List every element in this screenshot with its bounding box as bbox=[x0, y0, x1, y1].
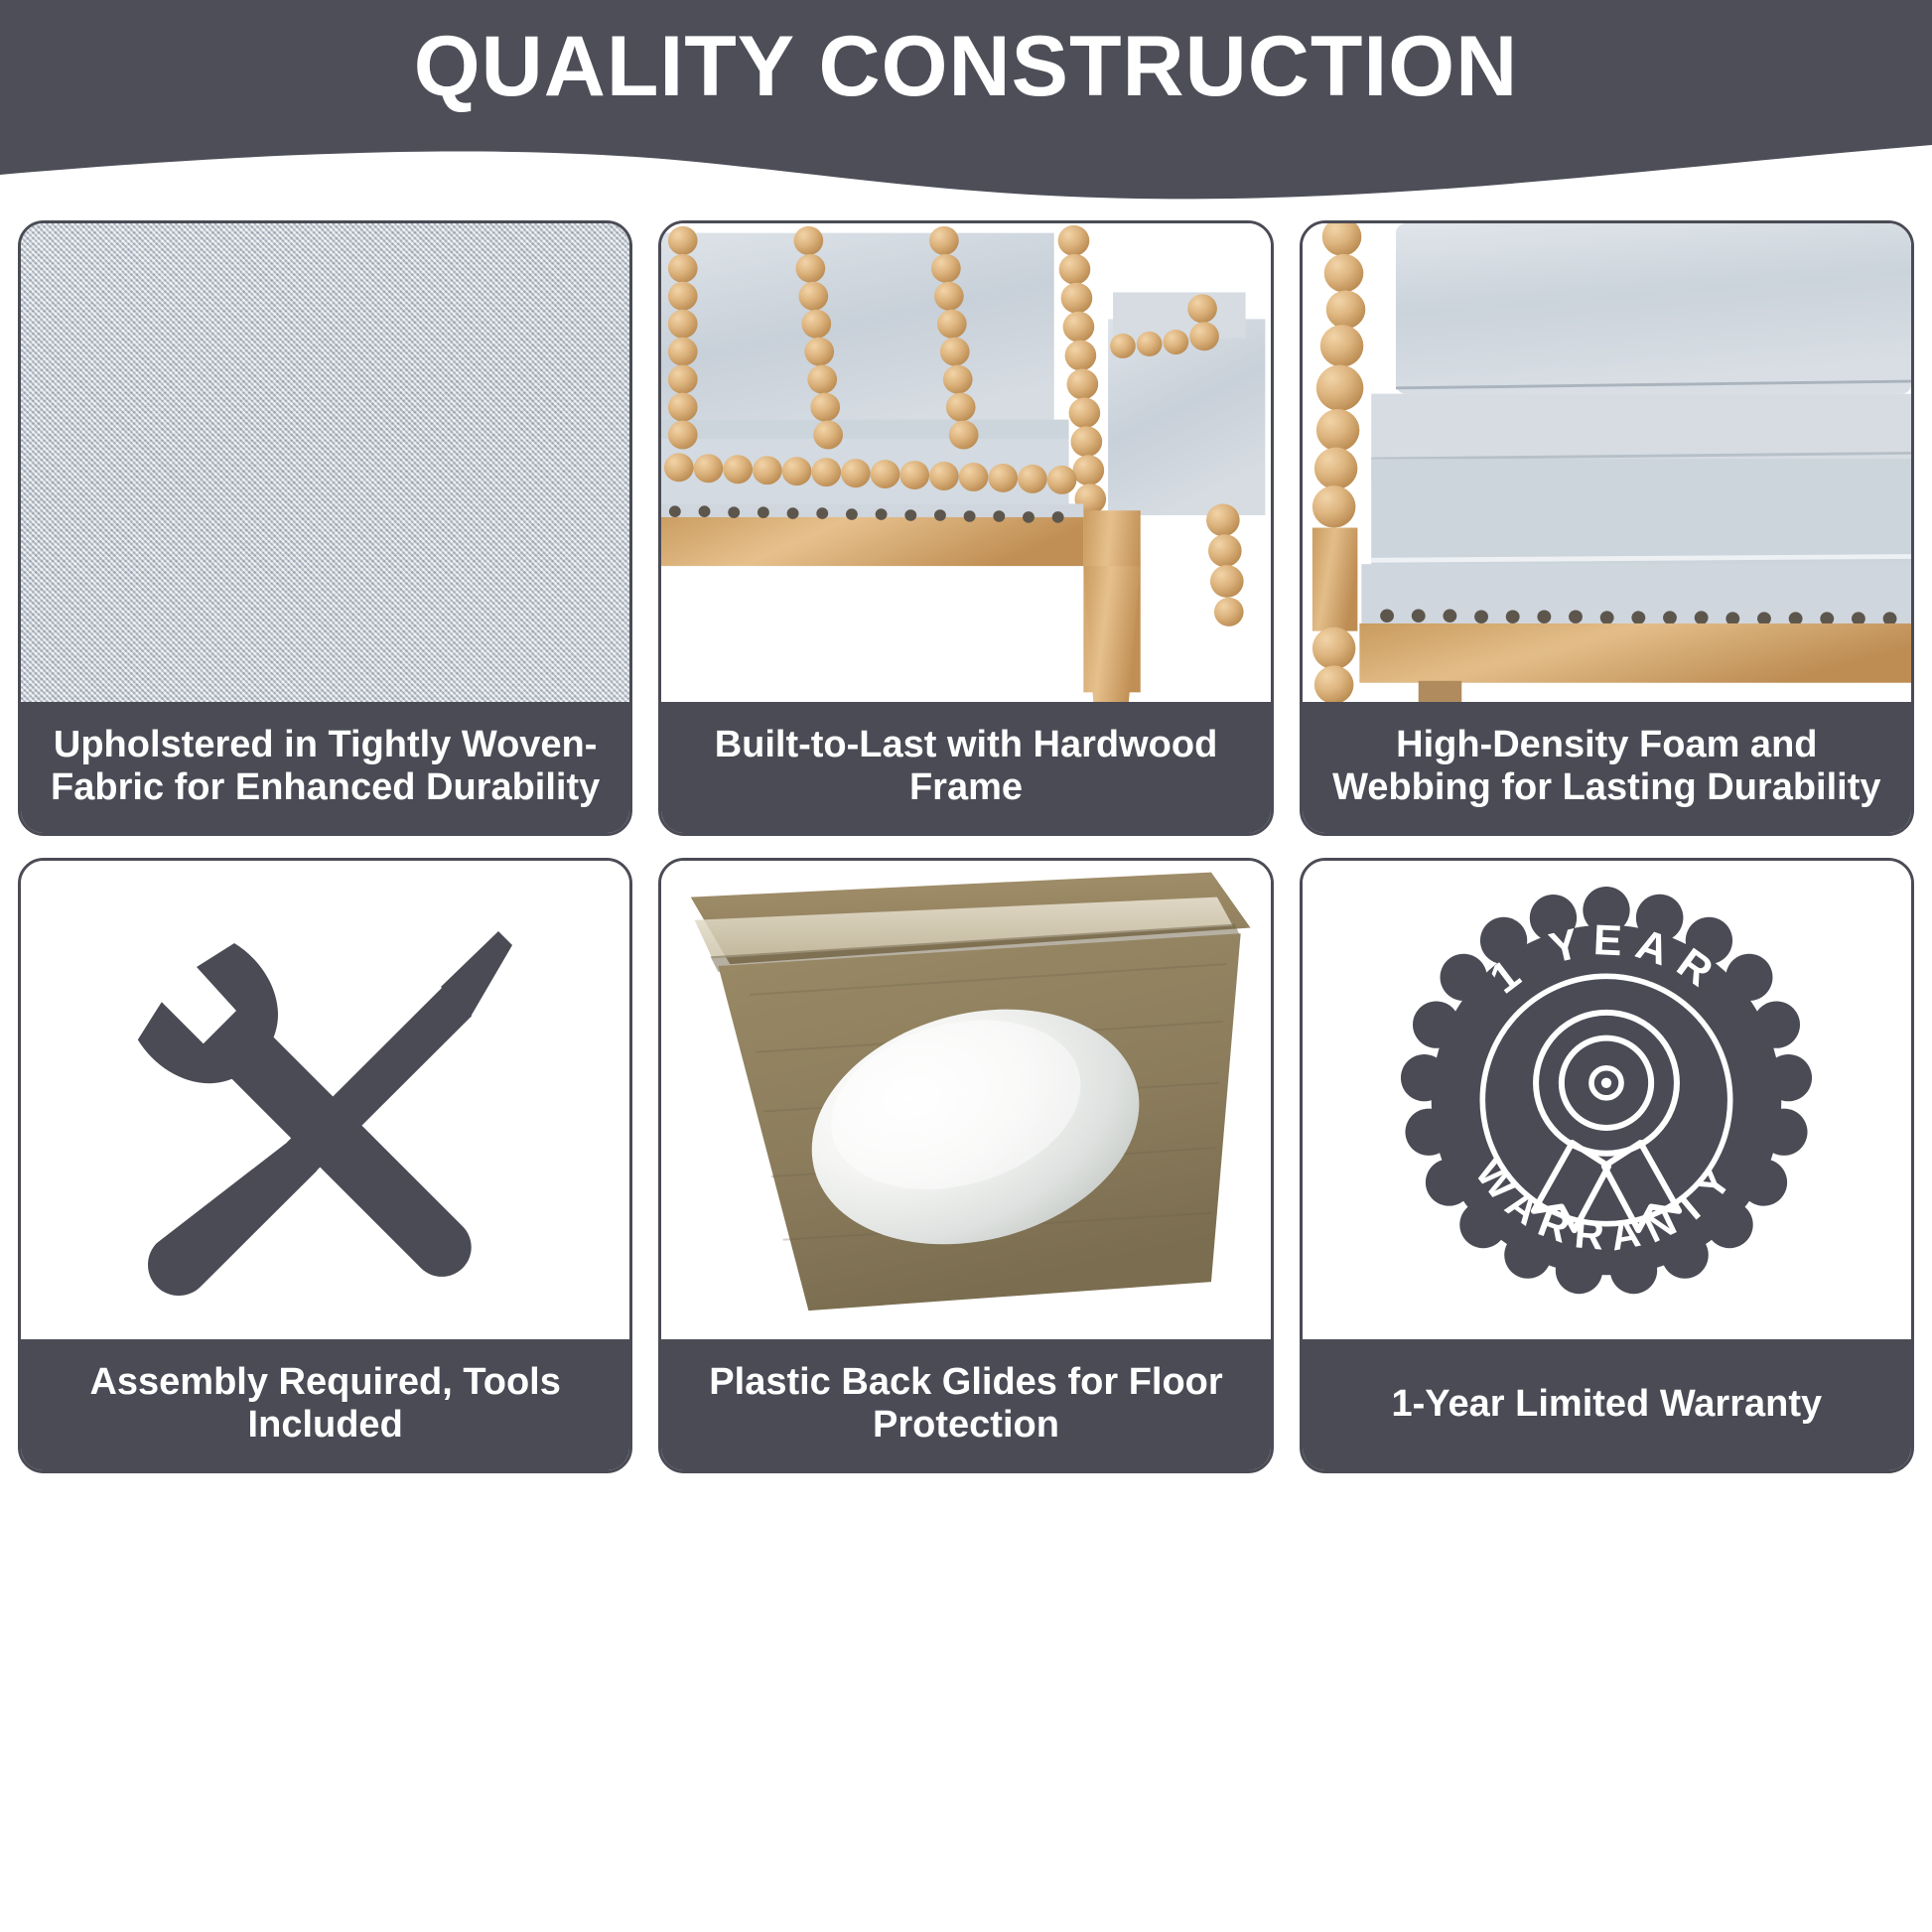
feature-grid: Upholstered in Tightly Woven-Fabric for … bbox=[18, 220, 1914, 1473]
card-caption-hardwood-frame: Built-to-Last with Hardwood Frame bbox=[661, 702, 1270, 833]
warranty-badge-icon: 1 YEAR WARRANTY bbox=[1393, 887, 1820, 1313]
chair-illustration bbox=[661, 223, 1270, 702]
plastic-glide-closeup-photo bbox=[661, 861, 1270, 1339]
page-title: QUALITY CONSTRUCTION bbox=[0, 22, 1932, 111]
feature-card-foam-webbing[interactable]: High-Density Foam and Webbing for Lastin… bbox=[1300, 220, 1914, 836]
woven-fabric-texture bbox=[21, 223, 629, 702]
page-header: QUALITY CONSTRUCTION bbox=[0, 0, 1932, 204]
spindle-chair-photo bbox=[661, 223, 1270, 702]
feature-card-warranty[interactable]: 1 YEAR WARRANTY 1-Year Limited Warranty bbox=[1300, 858, 1914, 1473]
chair-cushion-closeup-photo bbox=[1303, 223, 1911, 702]
tools-icon-area bbox=[21, 861, 629, 1339]
cushion-illustration bbox=[1303, 223, 1911, 702]
chair-scene bbox=[661, 223, 1270, 702]
warranty-seal-badge: 1 YEAR WARRANTY bbox=[1303, 861, 1911, 1339]
fabric-swatch-image bbox=[21, 223, 629, 702]
feature-card-assembly[interactable]: Assembly Required, Tools Included bbox=[18, 858, 632, 1473]
cushion-scene bbox=[1303, 223, 1911, 702]
feature-card-glides[interactable]: Plastic Back Glides for Floor Protection bbox=[658, 858, 1273, 1473]
card-caption-warranty: 1-Year Limited Warranty bbox=[1303, 1339, 1911, 1470]
glide-illustration bbox=[661, 861, 1270, 1339]
card-caption-fabric: Upholstered in Tightly Woven-Fabric for … bbox=[21, 702, 629, 833]
feature-card-hardwood-frame[interactable]: Built-to-Last with Hardwood Frame bbox=[658, 220, 1273, 836]
wrench-screwdriver-icon bbox=[127, 901, 524, 1299]
card-caption-glides: Plastic Back Glides for Floor Protection bbox=[661, 1339, 1270, 1470]
feature-card-fabric[interactable]: Upholstered in Tightly Woven-Fabric for … bbox=[18, 220, 632, 836]
card-caption-assembly: Assembly Required, Tools Included bbox=[21, 1339, 629, 1470]
card-caption-foam-webbing: High-Density Foam and Webbing for Lastin… bbox=[1303, 702, 1911, 833]
glide-scene bbox=[661, 861, 1270, 1339]
